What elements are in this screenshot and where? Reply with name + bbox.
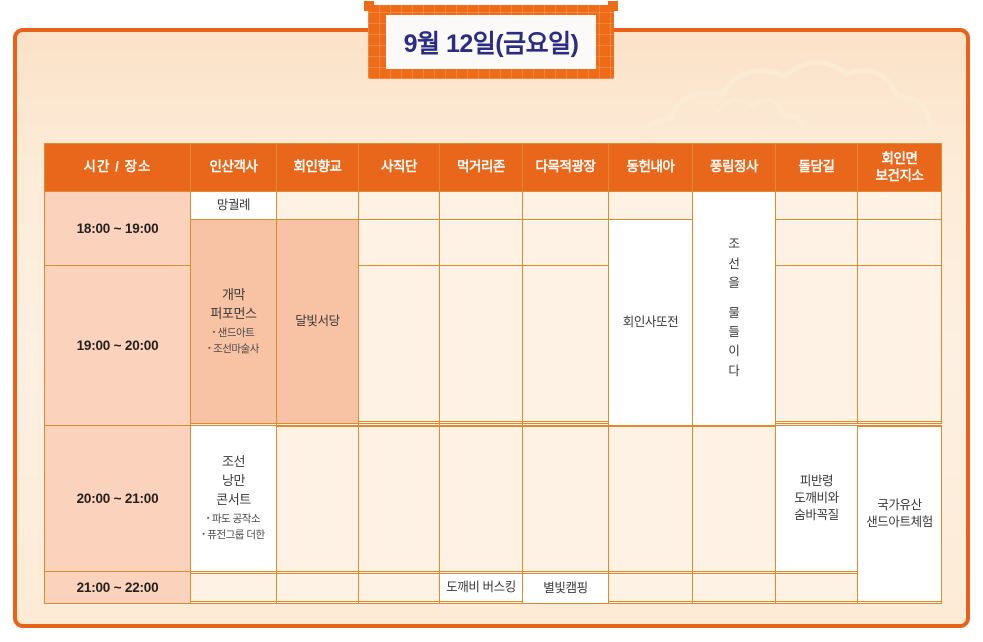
event-joseon-romantic-concert: 조선 낭만 콘서트 [191,453,276,510]
column-header-sajikdan: 사직단 [359,144,440,192]
vertical-char: 들 [728,325,739,339]
cell-meokgeori-10 [440,602,523,604]
cell-gwangjang-starlight-camping: 별빛캠핑 [523,573,609,603]
column-header-doldamgil: 돌담길 [776,144,858,192]
cell-sajikdan-2 [359,220,440,265]
event-pibanryeong-dokkaebi: 피반령 도깨비와 숨바꼭질 [776,473,857,524]
column-header-time: 시간 / 장소 [45,144,191,192]
event-title-line-1: 피반령 [800,474,833,488]
cell-insan-manggwollye: 망궐례 [191,192,277,220]
event-concert-bullets: 파도 공작소 퓨전그룹 더한 [191,512,276,544]
cell-dongheon-7 [609,427,693,572]
event-manggwollye: 망궐례 [191,197,276,214]
cell-insan-10 [191,602,277,604]
event-title-line-1: 개막 [222,287,245,302]
bullet-item: 퓨전그룹 더한 [191,528,276,544]
event-title-line-3: 숨바꼭질 [794,508,838,522]
event-title-line-1: 국가유산 [877,498,921,512]
cell-meokgeori-dokkaebi-busking: 도깨비 버스킹 [440,573,523,601]
vertical-gap [693,294,775,304]
schedule-poster: 9월 12일(금요일) 시간 / 장소 인산객사 회인향교 [0,0,983,642]
schedule-table: 시간 / 장소 인산객사 회인향교 사직단 먹거리존 다목적광장 동헌내아 풍림… [44,143,942,604]
table-row: 18:00 ~ 19:00 망궐례 조 선 을 [45,192,942,220]
cell-dongheon-hoeinsaddojeon: 회인사또전 [609,220,693,425]
event-title-line-1: 조선 [222,454,245,469]
vertical-char: 물 [728,306,739,320]
cell-sajikdan-3 [359,265,440,422]
table-header-row: 시간 / 장소 인산객사 회인향교 사직단 먹거리존 다목적광장 동헌내아 풍림… [45,144,942,192]
date-banner-inner: 9월 12일(금요일) [386,15,596,69]
cell-bogeonjiso-4 [858,422,942,424]
date-banner: 9월 12일(금요일) [368,5,614,79]
cell-doldamgil-1 [776,192,858,220]
cell-sajikdan-1 [359,192,440,220]
cell-doldamgil-9 [776,573,858,601]
cell-bogeonjiso-heritage-sandart: 국가유산 샌드아트체험 [858,427,942,602]
cell-insan-joseon-romantic-concert: 조선 낭만 콘서트 파도 공작소 퓨전그룹 더한 [191,425,277,572]
bullet-item: 샌드아트 [191,326,276,342]
column-header-hoein-hyanggyo: 회인향교 [277,144,359,192]
cell-doldamgil-pibanryeong-dokkaebi: 피반령 도깨비와 숨바꼭질 [776,425,858,572]
event-opening-performance: 개막 퍼포먼스 [191,286,276,324]
cell-doldamgil-10 [776,602,858,604]
cell-doldamgil-4 [776,422,858,424]
cell-meokgeori-7 [440,427,523,572]
column-header-dongheon-naea: 동헌내아 [609,144,693,192]
cell-bogeonjiso-1 [858,192,942,220]
vertical-char: 이 [728,344,739,358]
event-title-line-2: 퍼포먼스 [210,306,256,321]
cell-meokgeori-2 [440,220,523,265]
header-line-1: 회인면 [881,151,917,166]
cell-sajikdan-9 [359,573,440,601]
cell-gwangjang-2 [523,220,609,265]
cell-hyanggyo-7 [277,427,359,572]
vertical-char: 다 [728,364,739,378]
header-line-2: 보건지소 [875,168,923,183]
cell-bogeonjiso-2 [858,220,942,265]
event-title-line-2: 도깨비와 [794,491,838,505]
column-header-damokjeok-gwangjang: 다목적광장 [523,144,609,192]
event-heritage-sandart: 국가유산 샌드아트체험 [858,497,941,531]
cell-meokgeori-1 [440,192,523,220]
cell-bogeonjiso-10 [858,602,942,604]
cell-dongheon-9 [609,573,693,601]
schedule-table-wrap: 시간 / 장소 인산객사 회인향교 사직단 먹거리존 다목적광장 동헌내아 풍림… [44,143,941,604]
event-title-line-2: 샌드아트체험 [866,515,933,529]
event-opening-bullets: 샌드아트 조선마술사 [191,326,276,358]
cell-pungrim-joseoneul-muldeurida: 조 선 을 물 들 이 다 [693,192,776,426]
vertical-char: 조 [728,237,739,251]
time-label-18: 18:00 ~ 19:00 [45,192,191,266]
cell-meokgeori-3 [440,265,523,422]
cell-pungrim-9 [693,573,776,601]
cell-hyanggyo-1 [277,192,359,220]
cell-dongheon-1 [609,192,693,220]
column-header-hoein-bogeonjiso: 회인면 보건지소 [858,144,942,192]
event-joseoneul-muldeurida: 조 선 을 물 들 이 다 [693,235,775,381]
column-header-pungrim-jeongsa: 풍림정사 [693,144,776,192]
event-title-line-2: 낭만 [222,473,245,488]
cell-dongheon-10 [609,602,693,604]
event-hoeinsa-ddojeon: 회인사또전 [609,314,692,331]
bullet-item: 파도 공작소 [191,512,276,528]
cell-hyanggyo-dalbit-seodang: 달빛서당 [277,220,359,424]
time-label-19: 19:00 ~ 20:00 [45,265,191,425]
bullet-item: 조선마술사 [191,342,276,358]
event-starlight-camping: 별빛캠핑 [523,580,608,597]
cell-insan-9 [191,573,277,601]
time-label-20: 20:00 ~ 21:00 [45,425,191,572]
cell-hyanggyo-9 [277,573,359,601]
cell-sajikdan-7 [359,427,440,572]
vertical-char: 을 [728,276,739,290]
page-title: 9월 12일(금요일) [404,24,579,60]
cell-sajikdan-10 [359,602,440,604]
cell-insan-opening-performance: 개막 퍼포먼스 샌드아트 조선마술사 [191,220,277,424]
cell-pungrim-7 [693,427,776,572]
event-title-line-3: 콘서트 [216,492,251,507]
cell-gwangjang-3 [523,265,609,422]
cell-gwangjang-7 [523,427,609,572]
table-row: 19:00 ~ 20:00 [45,265,942,422]
column-header-insan-gaeksa: 인산객사 [191,144,277,192]
cell-gwangjang-1 [523,192,609,220]
cell-hyanggyo-10 [277,602,359,604]
cell-doldamgil-3 [776,265,858,422]
cell-pungrim-10 [693,602,776,604]
vertical-char: 선 [728,257,739,271]
event-dalbit-seodang: 달빛서당 [277,313,358,330]
time-label-21: 21:00 ~ 22:00 [45,572,191,604]
event-dokkaebi-busking: 도깨비 버스킹 [440,579,522,596]
cell-bogeonjiso-3 [858,265,942,422]
cell-doldamgil-2 [776,220,858,265]
column-header-meokgeorijon: 먹거리존 [440,144,523,192]
